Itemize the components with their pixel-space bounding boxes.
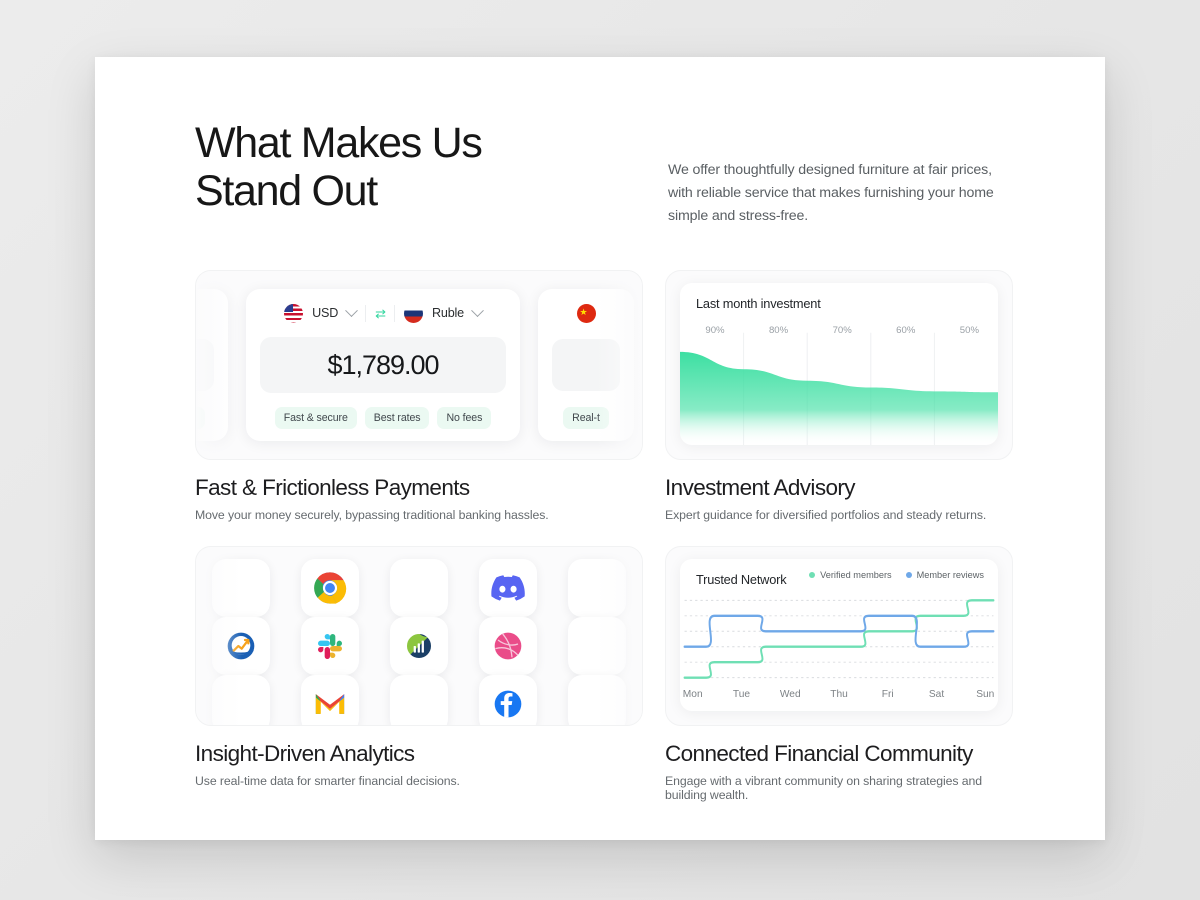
line-chart-plot [680,593,998,685]
app-tile-empty [390,559,448,617]
x-axis-label: Mon [683,689,703,700]
card-subtitle-analytics: Use real-time data for smarter financial… [195,774,643,788]
chrome-icon[interactable] [301,559,359,617]
swap-arrows-icon[interactable]: ⇄ [375,307,385,320]
legend-dot-green [809,572,815,578]
x-axis-label: Fri [882,689,894,700]
flag-us-icon [284,304,303,323]
globe-chart-icon[interactable] [390,617,448,675]
legend-item-reviews: Member reviews [906,570,984,580]
currency-to-label: Ruble [432,306,464,320]
card-subtitle-community: Engage with a vibrant community on shari… [665,774,1013,802]
chevron-down-icon[interactable] [345,304,358,317]
currency-card-active[interactable]: USD ⇄ Ruble $1,78 [246,289,520,441]
card-title-investment: Investment Advisory [665,475,1013,501]
analytics-badge-icon[interactable] [212,617,270,675]
amount-display-next [552,339,620,391]
card-title-analytics: Insight-Driven Analytics [195,741,643,767]
currency-card-next[interactable]: Real-t [538,289,634,441]
currency-selector-row[interactable]: USD ⇄ Ruble [260,303,506,323]
gmail-icon[interactable] [301,675,359,726]
pill-label: Real-t [563,407,609,429]
card-subtitle-investment: Expert guidance for diversified portfoli… [665,508,1013,522]
line-chart-svg [680,593,998,685]
feature-pills: Fast & secure Best rates No fees [260,407,506,429]
x-axis-label: Thu [830,689,848,700]
trusted-network-widget[interactable]: Trusted Network Verified members Member … [665,546,1013,726]
chevron-down-icon[interactable] [471,304,484,317]
feature-pills-next: Real-t [552,407,620,429]
pill-fast-secure: Fast & secure [275,407,357,429]
area-chart-title: Last month investment [680,283,998,311]
x-axis-label: Sun [976,689,994,700]
app-tile-empty [568,617,626,675]
line-chart-legend: Verified members Member reviews [809,570,984,580]
section-header: What Makes Us Stand Out We offer thought… [195,119,1013,228]
amount-display-prev [195,339,214,391]
feature-card-payments[interactable]: odates USD ⇄ [195,270,643,522]
feature-card-analytics[interactable]: Insight-Driven Analytics Use real-time d… [195,546,643,802]
x-axis-label: Wed [780,689,801,700]
area-chart-svg [680,319,998,445]
app-icon-grid-widget[interactable] [195,546,643,726]
app-tile-empty [212,675,270,726]
x-axis-label: Tue [733,689,750,700]
app-tile-empty [568,675,626,726]
page-title-line1: What Makes Us [195,119,482,167]
feature-pills-prev: odates [195,407,214,429]
legend-dot-blue [906,572,912,578]
feature-card-investment[interactable]: Last month investment 90%80%70%60%50% In… [665,270,1013,522]
dribbble-icon[interactable] [479,617,537,675]
legend-item-verified: Verified members [809,570,892,580]
line-chart-x-labels: MonTueWedThuFriSatSun [680,689,998,705]
discord-icon[interactable] [479,559,537,617]
section-intro-text: We offer thoughtfully designed furniture… [668,159,1013,228]
flag-ru-icon [404,304,423,323]
currency-card-previous[interactable]: odates [195,289,228,441]
card-title-community: Connected Financial Community [665,741,1013,767]
card-title-payments: Fast & Frictionless Payments [195,475,643,501]
area-chart-plot: 90%80%70%60%50% [680,319,998,445]
divider [365,305,366,322]
pill-best-rates: Best rates [365,407,430,429]
investment-chart-widget[interactable]: Last month investment 90%80%70%60%50% [665,270,1013,460]
app-icon-grid[interactable] [196,547,642,725]
legend-label: Verified members [820,570,892,580]
app-tile-empty [212,559,270,617]
page-background: What Makes Us Stand Out We offer thought… [0,0,1200,900]
page-title: What Makes Us Stand Out [195,119,482,215]
page-title-line2: Stand Out [195,167,377,215]
pill-no-fees: No fees [437,407,491,429]
flag-cn-icon [577,304,596,323]
slack-icon[interactable] [301,617,359,675]
currency-converter-widget[interactable]: odates USD ⇄ [195,270,643,460]
currency-from-label: USD [312,306,338,320]
feature-grid: odates USD ⇄ [195,270,1013,802]
divider [394,305,395,322]
area-chart-card: Last month investment 90%80%70%60%50% [680,283,998,445]
pill-label: odates [195,407,205,429]
app-tile-empty [568,559,626,617]
app-tile-empty [390,675,448,726]
card-subtitle-payments: Move your money securely, bypassing trad… [195,508,643,522]
currency-carousel[interactable]: odates USD ⇄ [195,271,572,459]
legend-label: Member reviews [917,570,984,580]
line-chart-card: Trusted Network Verified members Member … [680,559,998,711]
x-axis-label: Sat [929,689,944,700]
currency-selector-prev[interactable] [195,303,214,323]
content-panel: What Makes Us Stand Out We offer thought… [95,57,1105,840]
amount-value: $1,789.00 [327,350,438,381]
currency-selector-next[interactable] [552,303,620,323]
feature-card-community[interactable]: Trusted Network Verified members Member … [665,546,1013,802]
facebook-icon[interactable] [479,675,537,726]
amount-display[interactable]: $1,789.00 [260,337,506,393]
